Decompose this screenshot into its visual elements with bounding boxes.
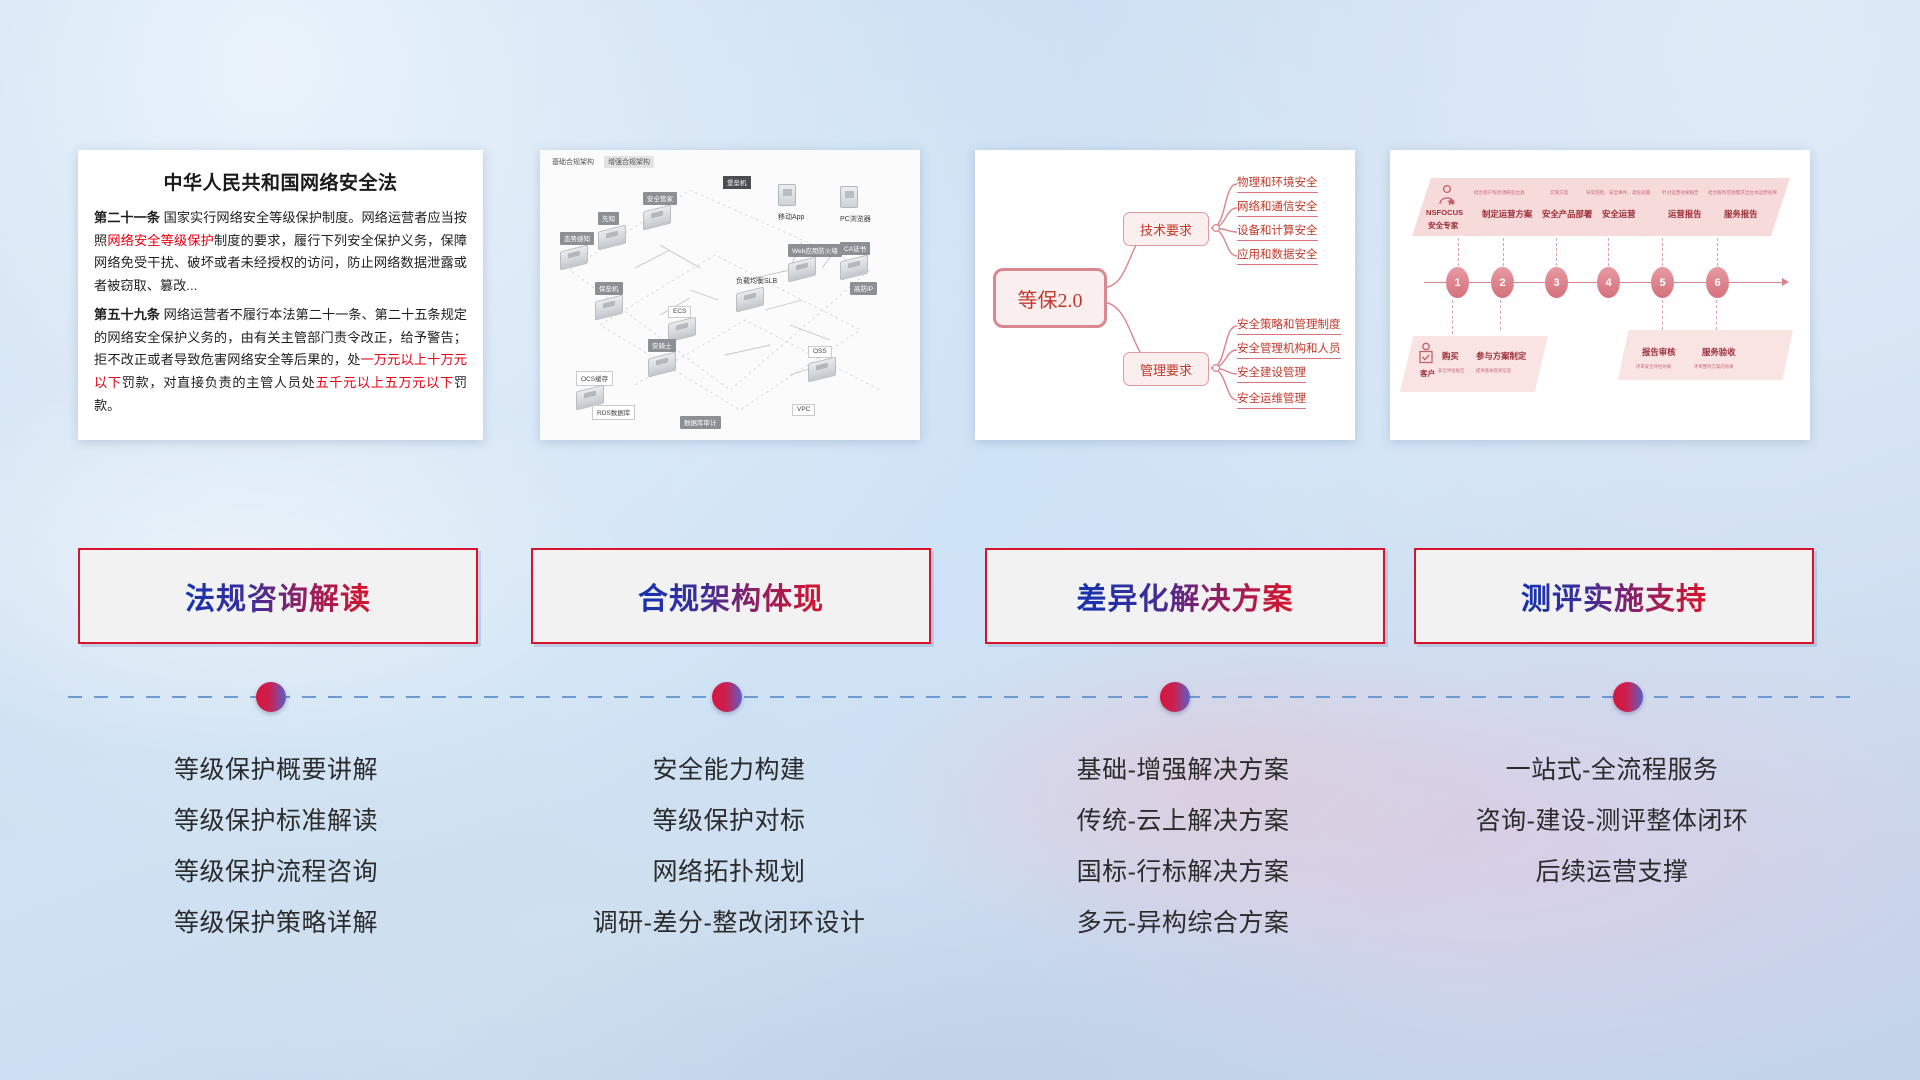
headline-box-3[interactable]: 差异化解决方案 [985, 548, 1385, 644]
list-item: 基础-增强解决方案 [985, 745, 1381, 796]
arch-chip-rds: RDS数据库 [592, 405, 635, 420]
headline-box-2[interactable]: 合规架构体现 [531, 548, 931, 644]
dash-connector-1 [1458, 238, 1459, 266]
law-article-21-highlight: 网络安全等级保护 [107, 233, 214, 248]
timeline-dot-1[interactable] [256, 682, 286, 712]
mindmap-leaf-physical-env: 物理和环境安全 [1237, 174, 1318, 193]
customer-role-label: 客户 [1420, 368, 1435, 379]
process-step-1[interactable]: 1 [1446, 267, 1469, 298]
arch-node-rds: RDS数据库 [592, 402, 635, 420]
law-article-21: 第二十一条 国家实行网络安全等级保护制度。网络运营者应当按照网络安全等级保护制度… [94, 207, 467, 298]
arch-chip-xianzhi: 先知 [598, 212, 619, 225]
mindmap-canvas: 等保2.0 技术要求 管理要求 物理和环境安全 网络和通信安全 设备和计算安全 … [975, 150, 1355, 440]
mindmap-leaf-org-personnel: 安全管理机构和人员 [1237, 340, 1341, 359]
law-title: 中华人民共和国网络安全法 [94, 168, 467, 195]
list-item: 等级保护策略详解 [78, 898, 474, 949]
arch-node-ca-cert: CA证书 [840, 238, 870, 277]
top-step-2-caption: 实施方案 [1550, 190, 1568, 196]
arch-chip-db-audit: 数据库审计 [680, 416, 721, 429]
timeline-dot-4[interactable] [1613, 682, 1643, 712]
card-process-timeline[interactable]: NSFOCUS 安全专家 结合客户现状调研后出具 制定运营方案 实施方案 安全产… [1390, 150, 1810, 440]
cards-row: 中华人民共和国网络安全法 第二十一条 国家实行网络安全等级保护制度。网络运营者应… [0, 0, 1920, 440]
list-item: 调研-差分-整改闭环设计 [531, 898, 927, 949]
arch-node-pc-browser: PC浏览器 [840, 186, 871, 226]
process-axis-arrow [1782, 278, 1789, 286]
arch-label-pc-browser: PC浏览器 [840, 216, 871, 223]
arch-node-anqishi: 安骑士 [648, 335, 676, 374]
top-step-5-caption: 结合服务范围需求出台本运营效果 [1708, 190, 1777, 196]
law-article-59: 第五十九条 网络运营者不履行本法第二十一条、第二十五条规定的网络安全保护义务的，… [94, 304, 467, 418]
bottom-step-3-caption: 评审安全评估效果 [1636, 364, 1671, 370]
arch-node-oss: OSS [808, 340, 836, 379]
arch-node-ecs: ECS [668, 300, 696, 339]
process-step-3[interactable]: 3 [1545, 267, 1568, 298]
top-step-3-caption: 日常巡检、安全事件、高危处置 [1586, 190, 1650, 196]
arch-chip-oss: OSS [808, 346, 832, 358]
arch-chip-anqishi: 安骑士 [648, 339, 676, 352]
bottom-step-2-caption: 提供基本现状信息 [1476, 368, 1511, 374]
list-item: 等级保护对标 [531, 796, 927, 847]
arch-chip-security-butler: 安全管家 [643, 192, 677, 205]
dash-connector-2 [1503, 238, 1504, 266]
bottom-step-4-caption: 评审整改方案的效果 [1694, 364, 1734, 370]
list-item: 国标-行标解决方案 [985, 847, 1381, 898]
law-article-59-highlight-2: 五千元以上五万元以下 [315, 375, 453, 390]
headline-box-4[interactable]: 测评实施支持 [1414, 548, 1814, 644]
process-band-top [1412, 178, 1790, 236]
list-item: 一站式-全流程服务 [1414, 745, 1810, 796]
arch-chip-anti-ddos: 高防IP [850, 282, 877, 295]
list-item: 等级保护流程咨询 [78, 847, 474, 898]
arch-node-situational-awareness: 态势感知 [560, 228, 594, 267]
mindmap-branch-technical[interactable]: 技术要求 [1123, 212, 1209, 246]
bottom-step-1-caption: 安全评估报告 [1438, 368, 1464, 374]
law-text-block: 中华人民共和国网络安全法 第二十一条 国家实行网络安全等级保护制度。网络运营者应… [78, 150, 483, 440]
list-item: 传统-云上解决方案 [985, 796, 1381, 847]
process-step-2[interactable]: 2 [1491, 267, 1514, 298]
mindmap-leaf-device-compute: 设备和计算安全 [1237, 222, 1318, 241]
top-step-2-title: 安全产品部署 [1542, 208, 1592, 220]
arch-chip-vpc: VPC [792, 404, 815, 416]
law-article-59-part2: 罚款，对直接负责的主管人员处 [122, 375, 316, 390]
list-item: 多元-异构综合方案 [985, 898, 1381, 949]
arch-node-bastion: 保垒机 [595, 278, 623, 317]
list-item: 网络拓扑规划 [531, 847, 927, 898]
arch-chip-ocs-cache: OCS缓存 [576, 371, 613, 386]
headline-row: 法规咨询解读 合规架构体现 差异化解决方案 测评实施支持 [0, 548, 1920, 654]
bottom-step-2-title: 参与方案制定 [1476, 350, 1526, 362]
arch-node-anti-ddos: 高防IP [850, 278, 877, 296]
bottom-step-4-title: 服务验收 [1702, 346, 1736, 358]
customer-person-icon [1416, 342, 1436, 366]
expert-role-line1: NSFOCUS [1426, 208, 1463, 217]
arch-node-xianzhi: 先知 [598, 208, 626, 247]
top-step-4-title: 运营报告 [1668, 208, 1702, 220]
dash-connector-b2 [1500, 300, 1501, 330]
headline-box-1[interactable]: 法规咨询解读 [78, 548, 478, 644]
arch-chip-bastion-dark: 堡垒机 [723, 176, 751, 189]
feature-column-4: 一站式-全流程服务 咨询-建设-测评整体闭环 后续运营支撑 [1414, 745, 1810, 898]
mindmap-leaf-ops-mgmt: 安全运维管理 [1237, 390, 1306, 409]
headline-label-3: 差异化解决方案 [1077, 574, 1294, 618]
mindmap-root-node[interactable]: 等保2.0 [993, 268, 1107, 328]
law-article-59-label: 第五十九条 [94, 307, 160, 322]
bottom-step-1-title: 购买 [1442, 350, 1459, 362]
process-step-5[interactable]: 5 [1651, 267, 1674, 298]
law-article-21-label: 第二十一条 [94, 210, 160, 225]
arch-node-waf: Web应用防火墙 [788, 240, 842, 279]
card-architecture-diagram[interactable]: 基础合规架构 增强合规架构 态势感知 [540, 150, 920, 440]
top-step-4-caption: 针对运营效果报告 [1662, 190, 1699, 196]
dash-connector-b1 [1452, 300, 1453, 334]
top-step-1-caption: 结合客户现状调研后出具 [1474, 190, 1525, 196]
timeline-dashed-line [68, 696, 1854, 698]
card-law-document[interactable]: 中华人民共和国网络安全法 第二十一条 国家实行网络安全等级保护制度。网络运营者应… [78, 150, 483, 440]
mindmap-leaf-policy-system: 安全策略和管理制度 [1237, 316, 1341, 335]
list-item: 咨询-建设-测评整体闭环 [1414, 796, 1810, 847]
bottom-step-3-title: 报告审核 [1642, 346, 1676, 358]
timeline-dot-2[interactable] [712, 682, 742, 712]
list-item: 后续运营支撑 [1414, 847, 1810, 898]
mindmap-leaf-network-comm: 网络和通信安全 [1237, 198, 1318, 217]
arch-label-mobile-app: 移动App [778, 214, 804, 221]
mindmap-leaf-app-data: 应用和数据安全 [1237, 246, 1318, 265]
arch-chip-bastion: 保垒机 [595, 282, 623, 295]
dash-connector-4 [1608, 238, 1609, 266]
arch-node-slb: 负载均衡SLB [736, 270, 777, 309]
architecture-canvas: 基础合规架构 增强合规架构 态势感知 [540, 150, 920, 440]
feature-column-2: 安全能力构建 等级保护对标 网络拓扑规划 调研-差分-整改闭环设计 [531, 745, 927, 949]
arch-node-db-audit: 数据库审计 [680, 412, 721, 430]
arch-node-security-butler: 安全管家 [643, 188, 677, 227]
arch-node-vpc: VPC [792, 398, 815, 416]
card-mindmap[interactable]: 等保2.0 技术要求 管理要求 物理和环境安全 网络和通信安全 设备和计算安全 … [975, 150, 1355, 440]
dash-connector-3 [1556, 238, 1557, 266]
arch-label-slb: 负载均衡SLB [736, 278, 777, 285]
dash-connector-5 [1662, 238, 1663, 266]
list-item: 等级保护概要讲解 [78, 745, 474, 796]
headline-label-4: 测评实施支持 [1521, 574, 1707, 618]
arch-chip-waf: Web应用防火墙 [788, 244, 842, 257]
process-step-6[interactable]: 6 [1706, 267, 1729, 298]
feature-column-3: 基础-增强解决方案 传统-云上解决方案 国标-行标解决方案 多元-异构综合方案 [985, 745, 1381, 949]
arch-chip-situational-awareness: 态势感知 [560, 232, 594, 245]
top-step-1-title: 制定运营方案 [1482, 208, 1532, 220]
dash-connector-6 [1717, 238, 1718, 266]
arch-chip-ca-cert: CA证书 [840, 242, 870, 255]
timeline-dot-3[interactable] [1160, 682, 1190, 712]
top-step-3-title: 安全运营 [1602, 208, 1636, 220]
list-item: 等级保护标准解读 [78, 796, 474, 847]
headline-label-1: 法规咨询解读 [185, 574, 371, 618]
feature-column-1: 等级保护概要讲解 等级保护标准解读 等级保护流程咨询 等级保护策略详解 [78, 745, 474, 949]
process-canvas: NSFOCUS 安全专家 结合客户现状调研后出具 制定运营方案 实施方案 安全产… [1390, 150, 1810, 440]
process-step-4[interactable]: 4 [1597, 267, 1620, 298]
mindmap-leaf-build-mgmt: 安全建设管理 [1237, 364, 1306, 383]
list-item: 安全能力构建 [531, 745, 927, 796]
feature-lists: 等级保护概要讲解 等级保护标准解读 等级保护流程咨询 等级保护策略详解 安全能力… [0, 745, 1920, 1025]
arch-node-bastion-dark: 堡垒机 [723, 172, 751, 190]
arch-chip-ecs: ECS [668, 306, 691, 318]
mindmap-branch-management[interactable]: 管理要求 [1123, 352, 1209, 386]
expert-person-icon [1436, 184, 1458, 206]
arch-node-mobile-app: 移动App [778, 184, 804, 224]
dash-connector-b4 [1716, 300, 1717, 330]
headline-label-2: 合规架构体现 [638, 574, 824, 618]
dash-connector-b3 [1662, 300, 1663, 330]
expert-role-line2: 安全专家 [1428, 220, 1458, 231]
top-step-5-title: 服务报告 [1724, 208, 1758, 220]
